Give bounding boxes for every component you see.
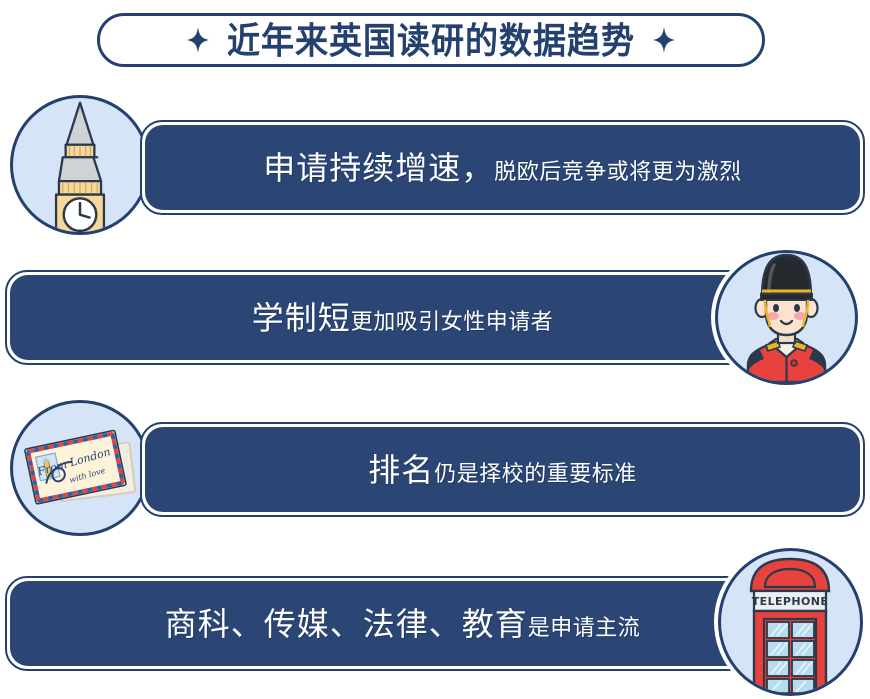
fact-bar-3-inner: 排名 仍是择校的重要标准 [145, 427, 860, 512]
fact-row-3: From London with love 排名 仍是择校的重要标准 [0, 400, 870, 540]
page-title: 近年来英国读研的数据趋势 [227, 22, 635, 58]
fact-bar-1-inner: 申请持续增速 ， 脱欧后竞争或将更为激烈 [145, 125, 860, 210]
fact-tail-4: 是申请主流 [528, 618, 641, 640]
royal-guard-icon [718, 253, 855, 382]
fact-bar-2[interactable]: 学制短 更加吸引女性申请者 [5, 270, 800, 365]
fact-bar-4[interactable]: 商科、传媒、法律、教育 是申请主流 [5, 576, 800, 671]
postcard-icon-bubble: From London with love [10, 400, 150, 536]
telephone-sign-text: TELEPHONE [752, 595, 828, 608]
telephone-booth-icon-bubble: TELEPHONE [718, 548, 863, 696]
royal-guard-icon-bubble [715, 250, 858, 385]
fact-label-3: 排名 仍是择校的重要标准 [368, 454, 637, 486]
fact-tail-3: 仍是择校的重要标准 [434, 464, 637, 486]
fact-bar-4-inner: 商科、传媒、法律、教育 是申请主流 [10, 581, 795, 666]
fact-bar-2-inner: 学制短 更加吸引女性申请者 [10, 275, 795, 360]
big-ben-icon-bubble [10, 95, 150, 235]
fact-lead-2: 学制短 [252, 302, 351, 334]
fact-tail-1: 脱欧后竞争或将更为激烈 [494, 162, 742, 184]
fact-tail-2: 更加吸引女性申请者 [351, 312, 554, 334]
page-title-banner: 近年来英国读研的数据趋势 [97, 13, 765, 67]
fact-row-1: 申请持续增速 ， 脱欧后竞争或将更为激烈 [0, 95, 870, 243]
fact-row-4: 商科、传媒、法律、教育 是申请主流 TELEPHONE [0, 548, 870, 699]
fact-label-1: 申请持续增速 ， 脱欧后竞争或将更为激烈 [263, 152, 742, 184]
fact-bar-3[interactable]: 排名 仍是择校的重要标准 [140, 422, 865, 517]
sparkle-diamond-icon [653, 27, 675, 53]
telephone-booth-icon: TELEPHONE [721, 551, 860, 693]
fact-lead-3: 排名 [368, 454, 434, 486]
big-ben-clock-tower-icon [13, 95, 147, 232]
fact-separator-1: ， [461, 152, 494, 184]
fact-lead-4: 商科、传媒、法律、教育 [165, 608, 528, 640]
london-postcard-icon: From London with love [13, 403, 147, 533]
sparkle-diamond-icon [187, 27, 209, 53]
fact-label-4: 商科、传媒、法律、教育 是申请主流 [165, 608, 641, 640]
fact-lead-1: 申请持续增速 [263, 152, 461, 184]
fact-bar-1[interactable]: 申请持续增速 ， 脱欧后竞争或将更为激烈 [140, 120, 865, 215]
fact-row-2: 学制短 更加吸引女性申请者 [0, 250, 870, 390]
fact-label-2: 学制短 更加吸引女性申请者 [252, 302, 554, 334]
